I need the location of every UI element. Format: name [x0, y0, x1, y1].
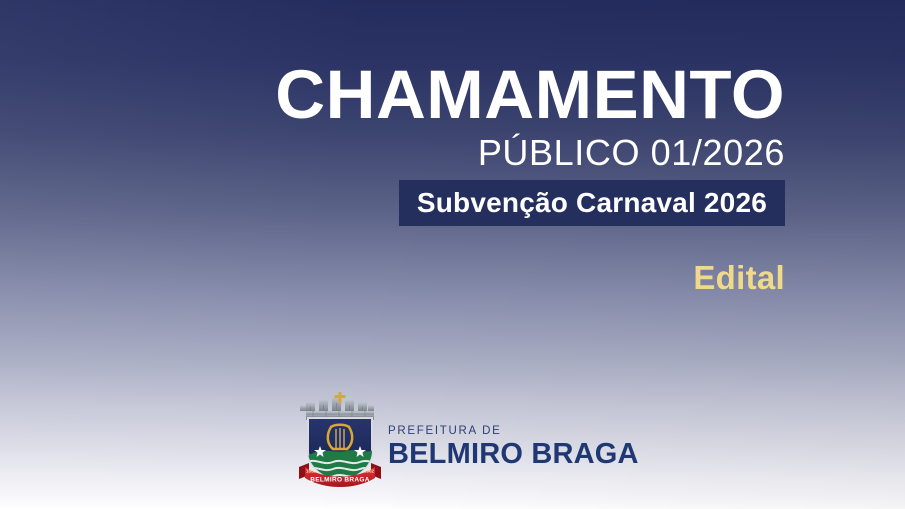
svg-text:1962: 1962	[364, 469, 375, 474]
svg-text:1852: 1852	[306, 469, 317, 474]
badge-row: Subvenção Carnaval 2026	[0, 180, 785, 226]
document-category-label: Edital	[0, 259, 785, 297]
brand-text: PREFEITURA DE BELMIRO BRAGA	[388, 410, 639, 471]
brand-prefix: PREFEITURA DE	[388, 424, 639, 438]
edital-cover-page: CHAMAMENTO PÚBLICO 01/2026 Subvenção Car…	[0, 0, 905, 509]
brand-name: BELMIRO BRAGA	[388, 438, 639, 471]
mural-crown	[300, 392, 374, 420]
status-badge: Subvenção Carnaval 2026	[399, 180, 785, 226]
brand-lockup: BELMIRO BRAGA 1852 1962 PREFEITURA DE BE…	[298, 392, 639, 488]
svg-text:BELMIRO BRAGA: BELMIRO BRAGA	[310, 477, 370, 484]
page-title: CHAMAMENTO	[0, 58, 785, 132]
page-subtitle: PÚBLICO 01/2026	[0, 132, 785, 174]
coat-of-arms-icon: BELMIRO BRAGA 1852 1962	[298, 392, 382, 488]
title-block: CHAMAMENTO PÚBLICO 01/2026 Subvenção Car…	[0, 58, 785, 297]
